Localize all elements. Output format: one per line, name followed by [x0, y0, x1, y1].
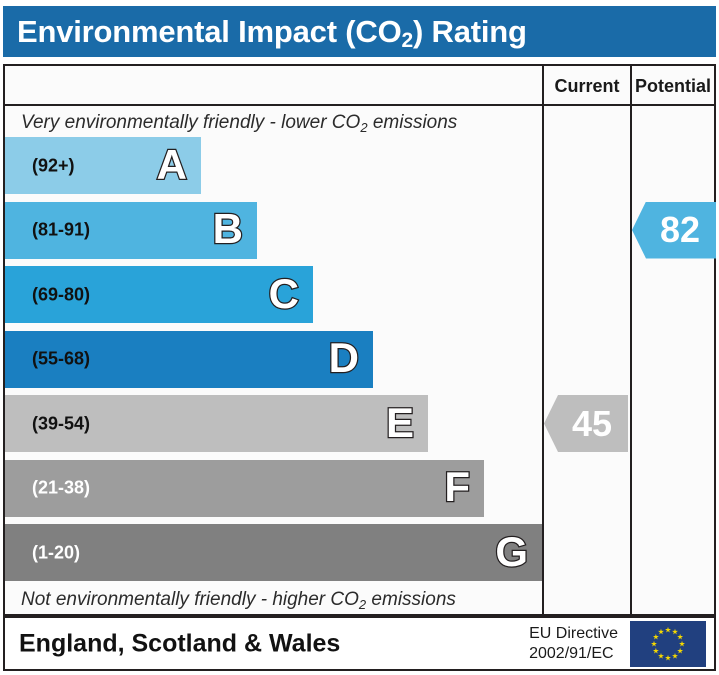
epc-environmental-impact-chart: Environmental Impact (CO2) Rating Curren… [0, 0, 719, 675]
rating-band-b: (81-91)B [5, 202, 257, 259]
rating-value-potential: 82 [648, 212, 700, 248]
rating-band-c: (69-80)C [5, 266, 313, 323]
rating-band-d: (55-68)D [5, 331, 373, 388]
column-divider-current [542, 66, 544, 614]
descriptor-top-subscript: 2 [360, 120, 367, 135]
header-divider [5, 104, 714, 106]
descriptor-top: Very environmentally friendly - lower CO… [21, 112, 536, 134]
rating-band-g: (1-20)G [5, 524, 542, 581]
column-header-potential: Potential [632, 74, 714, 98]
chart-frame: Current Potential Very environmentally f… [3, 64, 716, 616]
band-range-c: (69-80) [32, 284, 90, 305]
eu-directive-line1: EU Directive [529, 624, 618, 644]
page-title-tail: ) Rating [413, 14, 527, 49]
page-title-subscript: 2 [402, 29, 413, 52]
band-range-g: (1-20) [32, 542, 80, 563]
descriptor-bottom-subscript: 2 [359, 597, 366, 612]
page-title-main: Environmental Impact (CO [17, 14, 402, 49]
descriptor-top-prefix: Very environmentally friendly - lower CO [21, 112, 360, 133]
rating-band-e: (39-54)E [5, 395, 428, 452]
descriptor-top-suffix: emissions [368, 112, 458, 133]
descriptor-bottom: Not environmentally friendly - higher CO… [21, 589, 536, 611]
page-title: Environmental Impact (CO2) Rating [17, 14, 527, 50]
rating-bands: (92+)A(81-91)B(69-80)C(55-68)D(39-54)E(2… [5, 137, 542, 587]
descriptor-bottom-suffix: emissions [366, 589, 456, 610]
eu-flag-icon [630, 621, 706, 667]
band-range-b: (81-91) [32, 220, 90, 241]
band-letter-d: D [329, 337, 359, 379]
band-letter-a: A [157, 144, 187, 186]
chart-title-bar: Environmental Impact (CO2) Rating [3, 6, 716, 57]
column-divider-potential [630, 66, 632, 614]
rating-band-f: (21-38)F [5, 460, 484, 517]
eu-directive-label: EU Directive 2002/91/EC [529, 624, 618, 664]
band-range-d: (55-68) [32, 349, 90, 370]
band-range-a: (92+) [32, 155, 75, 176]
footer-region-label: England, Scotland & Wales [19, 629, 340, 658]
band-range-e: (39-54) [32, 413, 90, 434]
band-range-f: (21-38) [32, 478, 90, 499]
rating-arrow-current: 45 [544, 395, 628, 452]
band-letter-c: C [269, 273, 299, 315]
band-letter-g: G [495, 531, 528, 573]
rating-value-current: 45 [560, 406, 612, 442]
descriptor-bottom-prefix: Not environmentally friendly - higher CO [21, 589, 359, 610]
rating-band-a: (92+)A [5, 137, 201, 194]
eu-directive-line2: 2002/91/EC [529, 644, 618, 664]
band-letter-e: E [386, 402, 414, 444]
band-letter-f: F [444, 466, 470, 508]
band-letter-b: B [213, 208, 243, 250]
column-header-current: Current [544, 74, 630, 98]
rating-arrow-potential: 82 [632, 202, 716, 259]
chart-footer: England, Scotland & Wales EU Directive 2… [3, 616, 716, 671]
